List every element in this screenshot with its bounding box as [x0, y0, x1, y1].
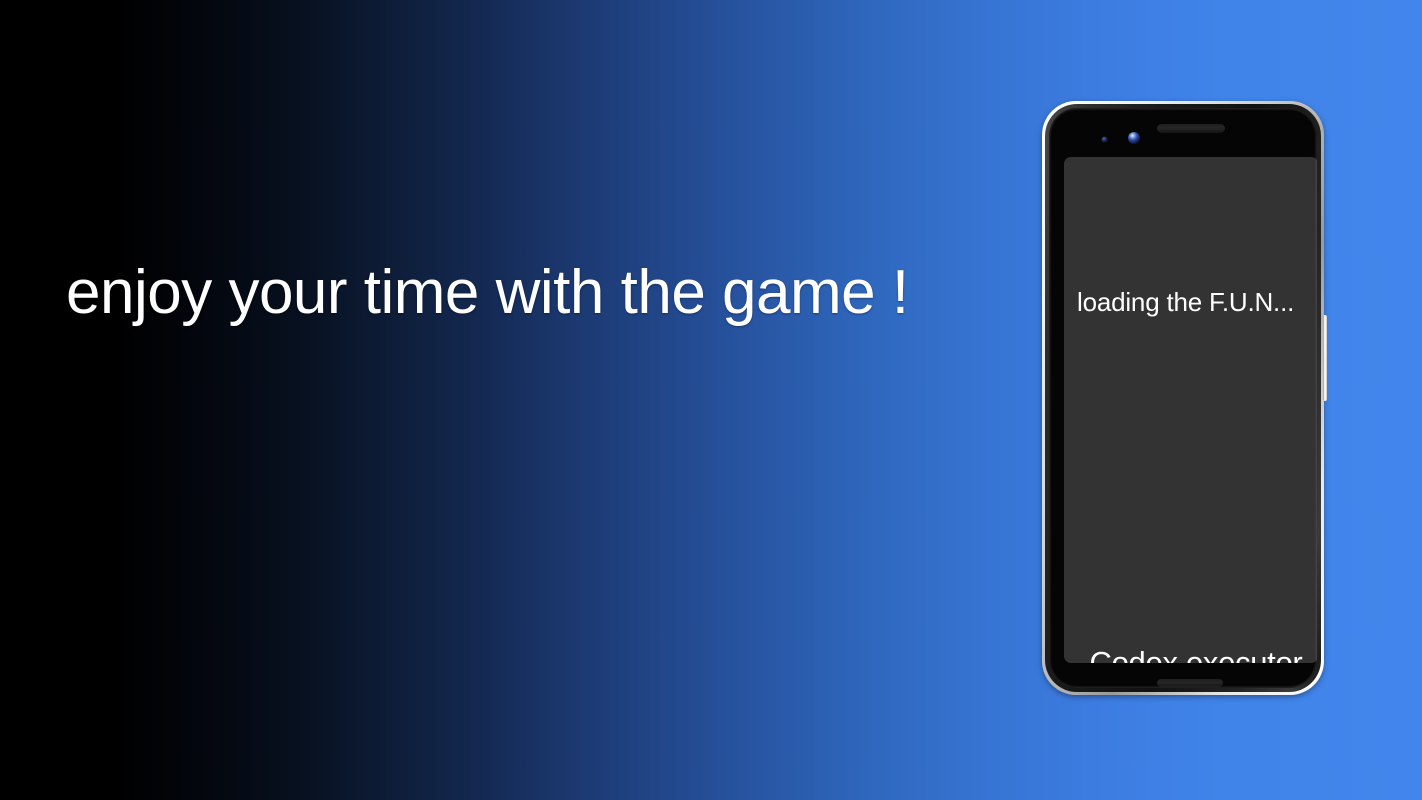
loading-status-text: loading the F.U.N... — [1077, 287, 1317, 317]
app-title-text: Codex executor — [1068, 645, 1317, 663]
power-button[interactable] — [1323, 315, 1327, 401]
bottom-speaker-icon — [1157, 679, 1223, 687]
android-phone-mockup: loading the F.U.N... Codex executor — [1042, 101, 1324, 695]
phone-screen[interactable]: loading the F.U.N... Codex executor — [1064, 157, 1317, 663]
page-title: enjoy your time with the game ! — [66, 258, 909, 328]
front-camera-icon — [1128, 132, 1140, 144]
promo-screenshot: enjoy your time with the game ! loading … — [0, 0, 1422, 800]
proximity-sensor-icon — [1102, 137, 1107, 142]
earpiece-speaker-icon — [1157, 124, 1225, 133]
phone-body: loading the F.U.N... Codex executor — [1049, 108, 1317, 688]
